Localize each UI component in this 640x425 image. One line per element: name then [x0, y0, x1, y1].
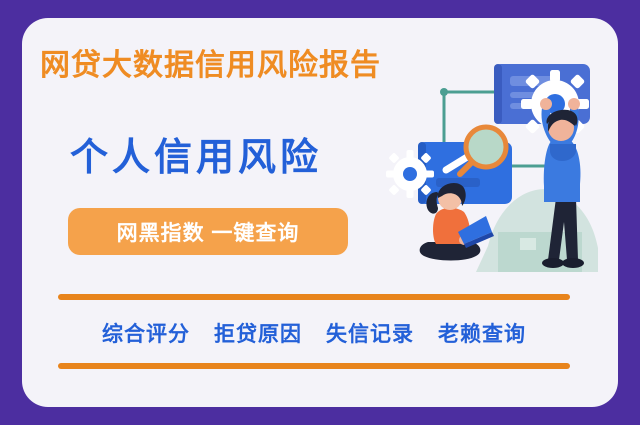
feature-item-reason[interactable]: 拒贷原因: [214, 318, 302, 348]
feature-list: 综合评分 拒贷原因 失信记录 老赖查询: [58, 310, 570, 356]
hill-block-window: [520, 238, 536, 250]
divider-bottom: [58, 363, 570, 369]
connector-node: [440, 88, 448, 96]
gear-icon-small: [386, 150, 434, 198]
feature-item-score[interactable]: 综合评分: [102, 318, 190, 348]
banner-card: 网贷大数据信用风险报告 个人信用风险 网黑指数 一键查询 综合评分 拒贷原因 失…: [22, 18, 618, 407]
feature-item-laolai[interactable]: 老赖查询: [438, 318, 526, 348]
query-cta-button[interactable]: 网黑指数 一键查询: [68, 208, 348, 255]
divider-top: [58, 294, 570, 300]
feature-item-record[interactable]: 失信记录: [326, 318, 414, 348]
query-cta-label: 网黑指数 一键查询: [117, 217, 300, 247]
data-report-illustration: [380, 46, 618, 294]
promo-banner: 网贷大数据信用风险报告 个人信用风险 网黑指数 一键查询 综合评分 拒贷原因 失…: [0, 0, 640, 425]
